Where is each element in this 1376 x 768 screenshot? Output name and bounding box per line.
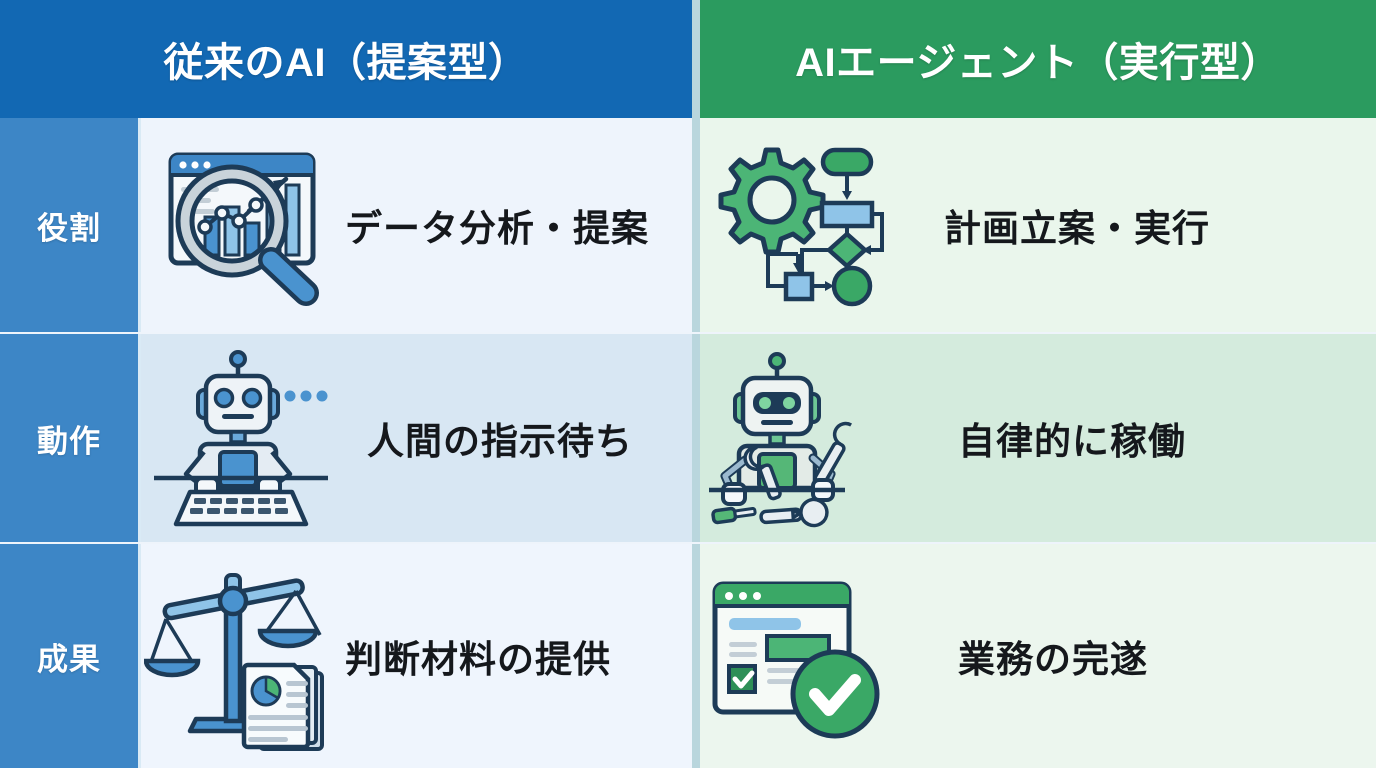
cell-text-behavior-conventional: 人間の指示待ち [367,411,633,465]
header-left-label: 従来のAI（提案型） [164,30,529,88]
row-label-outcome: 成果 [0,544,138,768]
column-divider [692,118,700,332]
cell-text-behavior-agent: 自律的に稼働 [958,411,1186,465]
cell-behavior-agent: 自律的に稼働 [700,334,1376,542]
cell-text-outcome-conventional: 判断材料の提供 [345,629,611,683]
cell-role-conventional: データ分析・提案 [141,118,692,332]
cell-text-role-agent: 計画立案・実行 [944,198,1210,252]
gear-flowchart-icon [700,125,900,325]
row-label-text: 役割 [37,203,101,248]
table-row: 役割 [0,118,1376,332]
row-label-role: 役割 [0,118,138,332]
comparison-table: 従来のAI（提案型） AIエージェント（実行型） 役割 [0,0,1376,768]
cell-outcome-agent: 業務の完遂 [700,544,1376,768]
cell-text-outcome-agent: 業務の完遂 [958,629,1148,683]
cell-role-agent: 計画立案・実行 [700,118,1376,332]
row-label-behavior: 動作 [0,334,138,542]
robot-with-tools-icon [700,343,900,533]
row-label-text: 動作 [37,416,101,461]
cell-behavior-conventional: 人間の指示待ち [141,334,692,542]
robot-waiting-at-keyboard-icon [141,343,341,533]
table-row: 動作 [0,334,1376,542]
cell-text-role-conventional: データ分析・提案 [345,198,649,252]
header-conventional-ai: 従来のAI（提案型） [0,0,692,118]
row-label-text: 成果 [37,634,101,679]
browser-checkmark-complete-icon [700,556,900,756]
table-header-row: 従来のAI（提案型） AIエージェント（実行型） [0,0,1376,118]
table-body: 役割 [0,118,1376,768]
magnifying-glass-data-analysis-icon [141,125,341,325]
table-row: 成果 [0,544,1376,768]
balance-scale-documents-icon [141,556,341,756]
cell-outcome-conventional: 判断材料の提供 [141,544,692,768]
column-divider [692,334,700,542]
column-divider [692,544,700,768]
header-right-label: AIエージェント（実行型） [795,30,1281,88]
header-column-divider [692,0,700,118]
header-ai-agent: AIエージェント（実行型） [700,0,1376,118]
